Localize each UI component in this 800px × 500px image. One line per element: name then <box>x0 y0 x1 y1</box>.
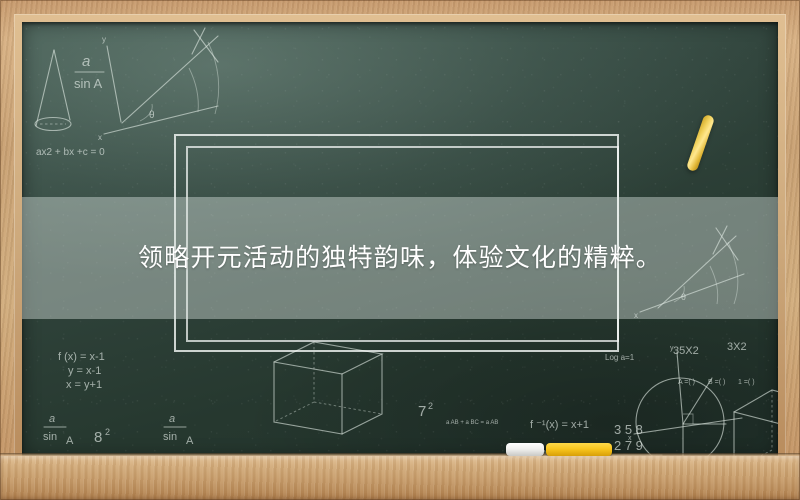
formula-a-over-sinA-top-left: a sin A <box>74 53 104 91</box>
formula-8-squared: 8 2 <box>94 427 110 446</box>
caption-band: 领略开元活动的独特韵味，体验文化的精粹。 <box>22 197 778 319</box>
svg-text:f (x) = x-1: f (x) = x-1 <box>58 351 105 363</box>
formula-a-over-sinA-1: a sin A <box>43 413 74 447</box>
caption-text: 领略开元活动的独特韵味，体验文化的精粹。 <box>138 246 662 271</box>
svg-text:2 7 9: 2 7 9 <box>614 438 643 453</box>
svg-text:A: A <box>186 435 194 447</box>
formula-3X2: 3X2 <box>727 341 747 353</box>
axis-angle-diagram-top-left: y x θ <box>98 28 219 142</box>
cube-diagram-bottom-right <box>734 390 778 458</box>
cube-diagram-bottom-left <box>274 342 382 434</box>
cone-diagram-top-left <box>35 50 71 131</box>
svg-text:x = y+1: x = y+1 <box>66 379 102 391</box>
svg-text:sin A: sin A <box>74 76 103 91</box>
chalkboard-banner: a sin A y x θ ax2 + bx +c = 0 <box>0 0 800 500</box>
chalk-ledge <box>0 456 800 500</box>
svg-text:2: 2 <box>428 401 433 411</box>
matrix-expression: A =( ) B =( ) 1 =( ) <box>678 379 755 386</box>
svg-text:8: 8 <box>94 429 102 446</box>
svg-text:A: A <box>66 435 74 447</box>
svg-text:sin: sin <box>43 431 57 443</box>
formula-small-ab-bc: a AB + a BC = a AB <box>446 420 498 426</box>
circle-diagram-bottom-right: y x <box>628 345 742 458</box>
ledge-chalk-white-icon <box>506 443 544 456</box>
formula-quadratic-top-left: ax2 + bx +c = 0 <box>36 147 105 158</box>
svg-text:a: a <box>169 413 175 425</box>
svg-text:θ: θ <box>149 110 155 121</box>
chalkboard-surface: a sin A y x θ ax2 + bx +c = 0 <box>22 22 778 458</box>
svg-text:sin: sin <box>163 431 177 443</box>
svg-text:a: a <box>82 53 90 70</box>
svg-text:3 5 8: 3 5 8 <box>614 422 643 437</box>
svg-text:y: y <box>102 35 106 44</box>
svg-text:y = x-1: y = x-1 <box>68 365 101 377</box>
svg-text:y: y <box>670 345 674 352</box>
ledge-chalk-yellow-icon <box>546 443 612 456</box>
svg-text:a: a <box>49 413 55 425</box>
svg-text:7: 7 <box>418 403 426 420</box>
formula-7-squared: 7 2 <box>418 401 433 420</box>
formula-log: Log a=1 <box>605 353 635 362</box>
svg-text:1 =( ): 1 =( ) <box>738 379 755 386</box>
formula-a-over-sinA-2: a sin A <box>163 413 194 447</box>
svg-text:2: 2 <box>105 427 110 437</box>
svg-text:x: x <box>98 133 102 142</box>
formula-inverse-fx: f ⁻¹(x) = x+1 <box>530 419 589 431</box>
formula-group-bottom-left: f (x) = x-1 y = x-1 x = y+1 <box>58 351 105 391</box>
